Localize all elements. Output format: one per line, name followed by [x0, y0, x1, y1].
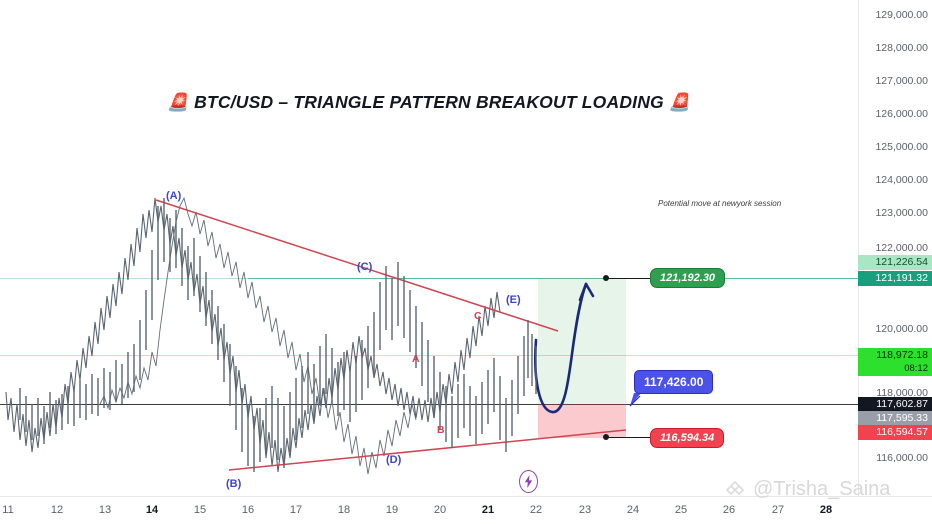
time-tick-15: 15 [194, 504, 206, 516]
price-badge-current-high: 118,972.18 08:12 [858, 348, 932, 376]
time-tick-22: 22 [530, 504, 542, 516]
session-note-annotation: Potential move at newyork session [658, 199, 781, 208]
price-badge-upper-band: 121,226.54 [858, 255, 932, 270]
time-tick-18: 18 [338, 504, 350, 516]
entry-price-label[interactable]: 117,426.00 [634, 370, 713, 394]
price-tick-122000: 122,000.00 [875, 242, 928, 254]
time-tick-17: 17 [290, 504, 302, 516]
price-detail [100, 198, 416, 474]
price-bars [6, 198, 500, 472]
stop-loss-zone [538, 404, 626, 438]
trendline-label-b: B [437, 424, 445, 436]
price-badge-lower-level: 116,594.57 [858, 425, 932, 440]
price-tick-120000: 120,000.00 [875, 323, 928, 335]
time-tick-14: 14 [146, 504, 158, 516]
wave-label-c: (C) [357, 261, 372, 273]
wave-label-a: (A) [166, 190, 181, 202]
page-title: 🚨 BTC/USD – TRIANGLE PATTERN BREAKOUT LO… [0, 92, 858, 113]
time-tick-12: 12 [51, 504, 63, 516]
current-high-value: 118,972.18 [876, 349, 928, 361]
tradingview-chart-screenshot: (A) (B) (C) (D) (E) A B C Potential move… [0, 0, 932, 524]
time-tick-27: 27 [772, 504, 784, 516]
take-profit-leader [606, 278, 652, 279]
price-tick-127000: 127,000.00 [875, 75, 928, 87]
stop-loss-leader [606, 437, 652, 438]
current-price-line [0, 404, 858, 405]
take-profit-zone [538, 278, 626, 404]
price-tick-129000: 129,000.00 [875, 9, 928, 21]
trendline-label-a: A [412, 353, 420, 365]
stop-loss-label[interactable]: 116,594.34 [650, 428, 724, 448]
price-tick-125000: 125,000.00 [875, 141, 928, 153]
price-badge-target-line: 121,191.32 [858, 271, 932, 286]
time-tick-13: 13 [99, 504, 111, 516]
stop-loss-marker [603, 434, 609, 440]
wave-label-e: (E) [506, 294, 521, 306]
entry-pointer [0, 0, 858, 496]
time-tick-19: 19 [386, 504, 398, 516]
price-tick-116000: 116,000.00 [876, 452, 928, 464]
time-tick-16: 16 [242, 504, 254, 516]
price-series-overlay [0, 0, 858, 496]
wave-label-d: (D) [386, 454, 401, 466]
candle-wicks [0, 0, 858, 496]
time-tick-24: 24 [627, 504, 639, 516]
time-tick-26: 26 [723, 504, 735, 516]
time-tick-23: 23 [579, 504, 591, 516]
price-tick-126000: 126,000.00 [875, 108, 928, 120]
price-line [4, 196, 510, 472]
reference-line-118972 [0, 355, 858, 356]
wave-label-b: (B) [226, 478, 241, 490]
price-badge-last-price: 117,602.87 [858, 397, 932, 412]
time-tick-25: 25 [675, 504, 687, 516]
take-profit-marker [603, 275, 609, 281]
take-profit-label[interactable]: 121,192.30 [650, 268, 725, 288]
time-tick-21: 21 [482, 504, 494, 516]
price-tick-124000: 124,000.00 [875, 174, 928, 186]
time-tick-11: 11 [2, 504, 13, 516]
price-axis[interactable]: 129,000.00 128,000.00 127,000.00 126,000… [858, 0, 932, 496]
price-tick-128000: 128,000.00 [875, 42, 928, 54]
time-tick-20: 20 [434, 504, 446, 516]
current-high-time: 08:12 [858, 362, 928, 375]
price-badge-bid-price: 117,595.33 [858, 411, 932, 426]
lightning-bolt-icon[interactable] [519, 470, 538, 493]
time-axis[interactable]: 11 12 13 14 15 16 17 18 19 20 21 22 23 2… [0, 496, 932, 524]
chart-title-text: 🚨 BTC/USD – TRIANGLE PATTERN BREAKOUT LO… [167, 92, 691, 112]
chart-plot-area[interactable]: (A) (B) (C) (D) (E) A B C Potential move… [0, 0, 858, 496]
target-level-line-ext [0, 278, 858, 279]
time-tick-28: 28 [820, 504, 832, 516]
trendline-label-c: C [474, 310, 482, 322]
price-tick-123000: 123,000.00 [875, 207, 928, 219]
